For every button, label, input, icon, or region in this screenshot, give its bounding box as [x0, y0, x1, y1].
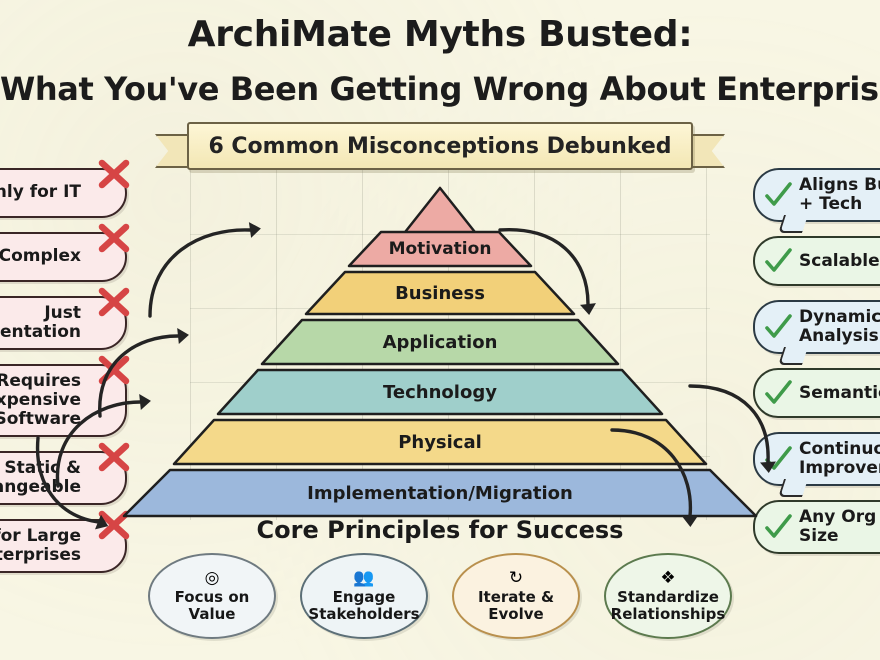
principle-item[interactable]: ↻Iterate & Evolve [452, 553, 580, 639]
principle-item[interactable]: ◎Focus on Value [148, 553, 276, 639]
ribbon-banner: 6 Common Misconceptions Debunked [155, 122, 725, 176]
puzzle-icon: ❖ [660, 570, 675, 587]
principle-label: Engage Stakeholders [308, 589, 419, 621]
archimate-pyramid: MotivationBusinessApplicationTechnologyP… [0, 186, 880, 506]
pyramid-layer[interactable]: Physical [172, 418, 708, 466]
page-subtitle: What You've Been Getting Wrong About Ent… [0, 70, 880, 108]
principles-title: Core Principles for Success [0, 516, 880, 544]
pyramid-layer-label: Implementation/Migration [122, 468, 758, 518]
ribbon-body: 6 Common Misconceptions Debunked [187, 122, 693, 170]
principle-label: Standardize Relationships [611, 589, 726, 621]
pyramid-layer-label: Business [304, 270, 576, 316]
ribbon-label: 6 Common Misconceptions Debunked [208, 134, 671, 159]
principles-row: ◎Focus on Value👥Engage Stakeholders↻Iter… [0, 553, 880, 639]
target-icon: ◎ [205, 570, 220, 587]
principle-label: Iterate & Evolve [478, 589, 554, 621]
page-title: ArchiMate Myths Busted: [0, 14, 880, 55]
pyramid-layer[interactable]: Business [304, 270, 576, 316]
principle-label: Focus on Value [175, 589, 250, 621]
pyramid-layer[interactable]: Motivation [347, 230, 533, 268]
people-icon: 👥 [353, 570, 374, 587]
pyramid-layer-label: Technology [216, 368, 664, 416]
pyramid-layer-label: Physical [172, 418, 708, 466]
pyramid-layer[interactable]: Technology [216, 368, 664, 416]
pyramid-layer[interactable]: Application [260, 318, 620, 366]
pyramid-layer-label: Motivation [347, 230, 533, 268]
principle-item[interactable]: ❖Standardize Relationships [604, 553, 732, 639]
principle-item[interactable]: 👥Engage Stakeholders [300, 553, 428, 639]
infographic-canvas: ArchiMate Myths Busted: What You've Been… [0, 0, 880, 660]
pyramid-layer[interactable]: Implementation/Migration [122, 468, 758, 518]
pyramid-layer-label: Application [260, 318, 620, 366]
refresh-icon: ↻ [509, 570, 523, 587]
